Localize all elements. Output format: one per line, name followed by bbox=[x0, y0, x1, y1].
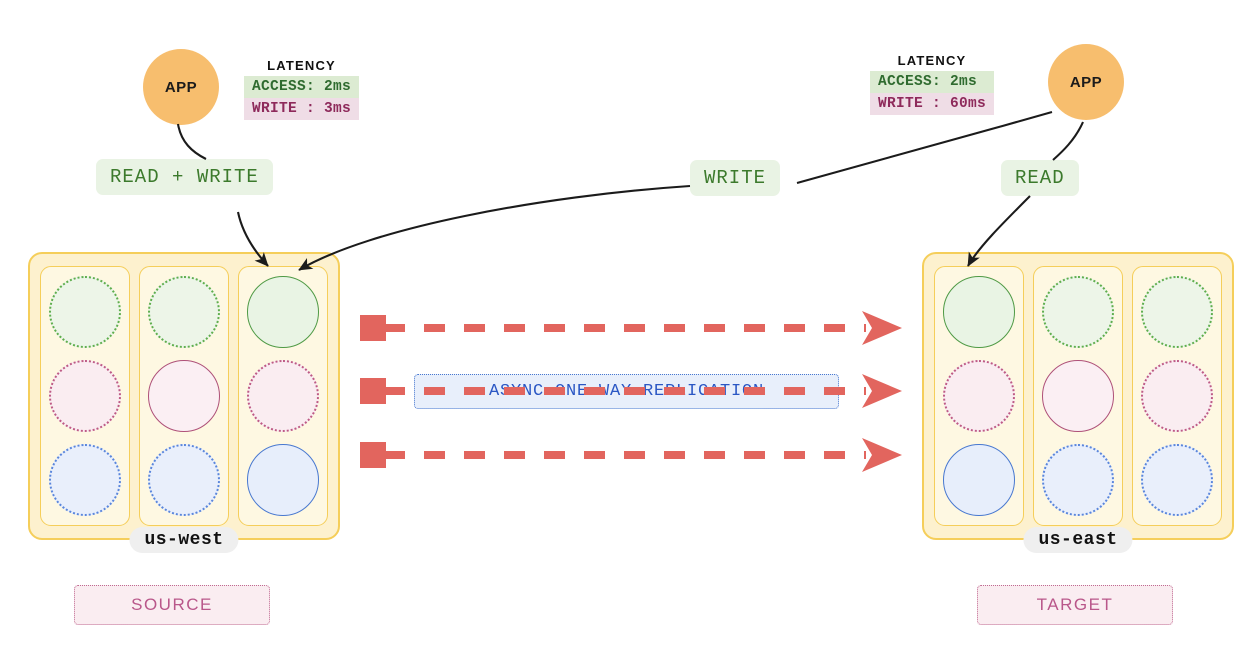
db-node-pink-solid[interactable] bbox=[148, 360, 220, 432]
replication-label: ASYNC ONE-WAY REPLICATION bbox=[414, 374, 839, 409]
replication-arrow bbox=[360, 311, 902, 345]
latency-write-right: WRITE : 60ms bbox=[870, 93, 994, 115]
latency-title-right: LATENCY bbox=[870, 53, 994, 68]
op-label-write[interactable]: WRITE bbox=[690, 160, 780, 196]
rack bbox=[1033, 266, 1123, 526]
rack bbox=[139, 266, 229, 526]
app-node-right-label: APP bbox=[1070, 74, 1102, 91]
rack bbox=[40, 266, 130, 526]
replication-label-text: ASYNC ONE-WAY REPLICATION bbox=[489, 382, 764, 401]
rack bbox=[934, 266, 1024, 526]
db-node-pink-dotted[interactable] bbox=[943, 360, 1015, 432]
role-tag-target: TARGET bbox=[977, 585, 1173, 625]
db-node-green-dotted[interactable] bbox=[1042, 276, 1114, 348]
curve-app-right-to-read bbox=[1053, 122, 1083, 160]
cluster-us-west: us-west bbox=[28, 252, 340, 540]
curve-app-left-to-op bbox=[178, 124, 206, 159]
latency-title-left: LATENCY bbox=[244, 58, 359, 73]
db-node-green-dotted[interactable] bbox=[1141, 276, 1213, 348]
latency-write-left: WRITE : 3ms bbox=[244, 98, 359, 120]
db-node-pink-dotted[interactable] bbox=[1141, 360, 1213, 432]
region-label-us-west: us-west bbox=[129, 527, 238, 553]
db-node-blue-dotted[interactable] bbox=[1141, 444, 1213, 516]
db-node-blue-dotted[interactable] bbox=[148, 444, 220, 516]
op-label-read-text: READ bbox=[1015, 167, 1065, 189]
latency-access-left: ACCESS: 2ms bbox=[244, 76, 359, 98]
replication-arrow bbox=[360, 438, 902, 472]
db-node-blue-solid[interactable] bbox=[247, 444, 319, 516]
db-node-blue-dotted[interactable] bbox=[1042, 444, 1114, 516]
db-node-pink-dotted[interactable] bbox=[247, 360, 319, 432]
latency-table-left: LATENCY ACCESS: 2ms WRITE : 3ms bbox=[244, 58, 359, 120]
role-tag-source-text: SOURCE bbox=[131, 595, 213, 615]
curve-write-to-node-left bbox=[299, 186, 690, 270]
db-node-green-dotted[interactable] bbox=[49, 276, 121, 348]
db-node-pink-dotted[interactable] bbox=[49, 360, 121, 432]
role-tag-source: SOURCE bbox=[74, 585, 270, 625]
app-node-left-label: APP bbox=[165, 79, 197, 96]
rack bbox=[1132, 266, 1222, 526]
op-label-read[interactable]: READ bbox=[1001, 160, 1079, 196]
region-label-us-east: us-east bbox=[1023, 527, 1132, 553]
app-node-left[interactable]: APP bbox=[143, 49, 219, 125]
db-node-green-dotted[interactable] bbox=[148, 276, 220, 348]
op-label-write-text: WRITE bbox=[704, 167, 766, 189]
db-node-pink-solid[interactable] bbox=[1042, 360, 1114, 432]
role-tag-target-text: TARGET bbox=[1037, 595, 1114, 615]
diagram-canvas: APP LATENCY ACCESS: 2ms WRITE : 3ms READ… bbox=[0, 0, 1250, 656]
db-node-green-solid[interactable] bbox=[247, 276, 319, 348]
op-label-read-write[interactable]: READ + WRITE bbox=[96, 159, 273, 195]
latency-table-right: LATENCY ACCESS: 2ms WRITE : 60ms bbox=[870, 53, 994, 115]
op-label-read-write-text: READ + WRITE bbox=[110, 166, 259, 188]
app-node-right[interactable]: APP bbox=[1048, 44, 1124, 120]
db-node-blue-solid[interactable] bbox=[943, 444, 1015, 516]
latency-access-right: ACCESS: 2ms bbox=[870, 71, 994, 93]
cluster-us-east: us-east bbox=[922, 252, 1234, 540]
db-node-blue-dotted[interactable] bbox=[49, 444, 121, 516]
db-node-green-solid[interactable] bbox=[943, 276, 1015, 348]
rack bbox=[238, 266, 328, 526]
